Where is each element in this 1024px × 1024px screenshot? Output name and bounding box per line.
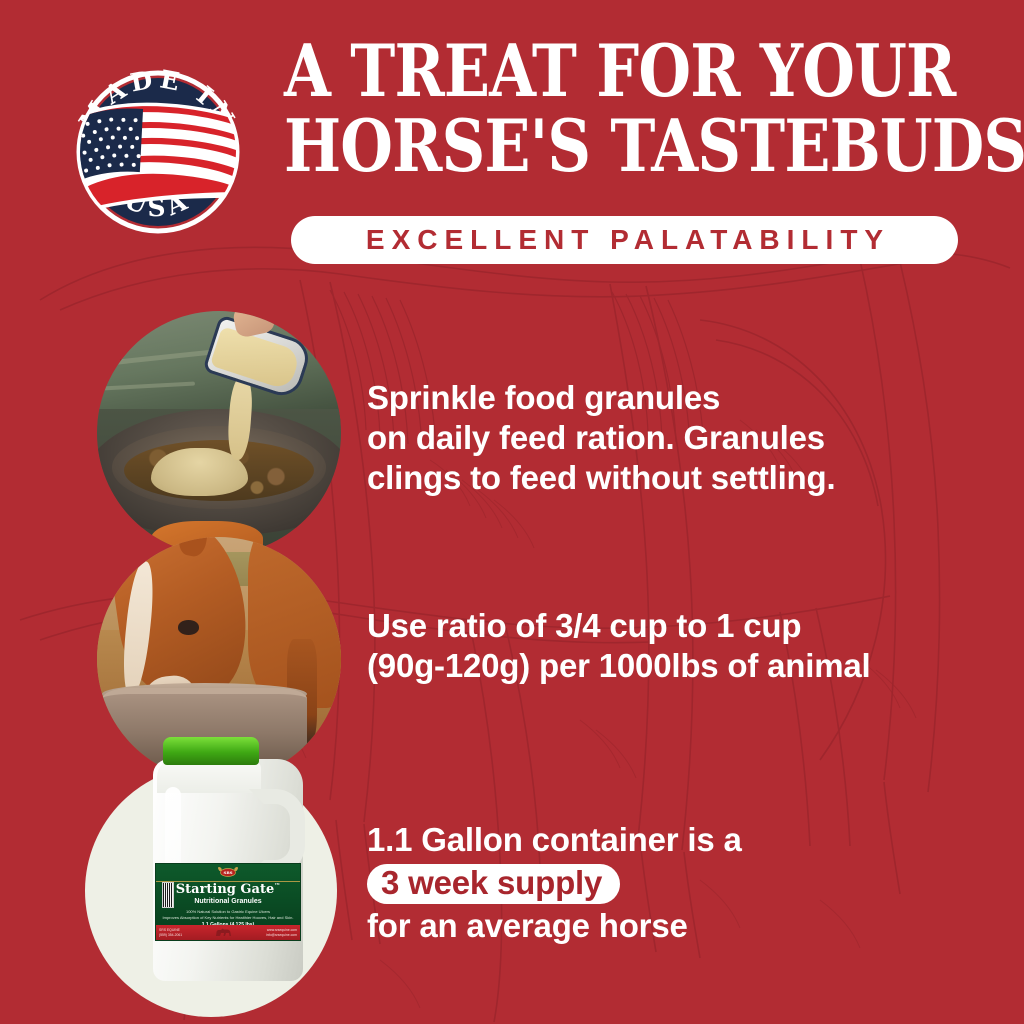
product-subtitle: Nutritional Granules bbox=[156, 898, 300, 905]
headline-line-2: HORSE'S TASTEBUDS bbox=[284, 111, 855, 182]
subtitle-badge: EXCELLENT PALATABILITY bbox=[291, 216, 958, 264]
label-contact-right: www.srsequine.com info@srsequine.com bbox=[266, 928, 297, 938]
subtitle-label: EXCELLENT PALATABILITY bbox=[359, 224, 890, 256]
product-label: SRS Starting Gate™ Nutritional Granules … bbox=[155, 863, 301, 941]
company-website: www.srsequine.com bbox=[266, 928, 297, 933]
horse-silhouette-icon bbox=[214, 927, 234, 938]
feature-text-dosage-instruction: Use ratio of 3/4 cup to 1 cup (90g-120g)… bbox=[367, 606, 870, 686]
brand-name: Starting Gate bbox=[176, 882, 274, 897]
product-claim-2: Improves Absorption of Key Nutrients for… bbox=[156, 915, 300, 920]
company-email: info@srsequine.com bbox=[266, 933, 297, 938]
feature-line: Sprinkle food granules bbox=[367, 378, 835, 418]
feature-line: clings to feed without settling. bbox=[367, 458, 835, 498]
feature-line: on daily feed ration. Granules bbox=[367, 418, 835, 458]
feature-line: 1.1 Gallon container is a bbox=[367, 820, 742, 860]
svg-text:SRS: SRS bbox=[223, 870, 232, 875]
made-in-usa-badge: • MADE IN • • USA • bbox=[58, 52, 258, 252]
srs-logo-icon: SRS bbox=[215, 865, 241, 878]
label-contact-left: SRS EQUINE (559) 354-2061 bbox=[159, 928, 182, 938]
feed-pan-scene bbox=[97, 311, 341, 555]
feature-text-sprinkle-instruction: Sprinkle food granules on daily feed rat… bbox=[367, 378, 835, 498]
feature-line-highlight-wrap: 3 week supply bbox=[367, 860, 742, 906]
page-title: A TREAT FOR YOUR HORSE'S TASTEBUDS bbox=[284, 36, 964, 181]
label-footer-band: SRS EQUINE (559) 354-2061 www.srsequine.… bbox=[156, 925, 300, 940]
product-claim-1: 100% Natural Solution to Gastric Equine … bbox=[156, 909, 300, 914]
trademark-symbol: ™ bbox=[274, 883, 280, 890]
container-cap bbox=[163, 737, 259, 765]
product-container: SRS Starting Gate™ Nutritional Granules … bbox=[145, 737, 325, 985]
company-phone: (559) 354-2061 bbox=[159, 933, 182, 938]
photo-scoop-pouring-granules-into-feed-pan bbox=[97, 311, 341, 555]
horse-eye bbox=[178, 620, 200, 635]
feature-text-supply-duration: 1.1 Gallon container is a 3 week supply … bbox=[367, 820, 742, 946]
company-name: SRS EQUINE bbox=[159, 928, 182, 933]
feature-line: for an average horse bbox=[367, 906, 742, 946]
feature-line: Use ratio of 3/4 cup to 1 cup bbox=[367, 606, 870, 646]
product-brand-title: Starting Gate™ bbox=[156, 882, 300, 897]
headline-line-1: A TREAT FOR YOUR bbox=[284, 36, 855, 107]
infographic-poster: • MADE IN • • USA • bbox=[0, 0, 1024, 1024]
highlight-badge-supply: 3 week supply bbox=[367, 864, 620, 904]
feature-line: (90g-120g) per 1000lbs of animal bbox=[367, 646, 870, 686]
